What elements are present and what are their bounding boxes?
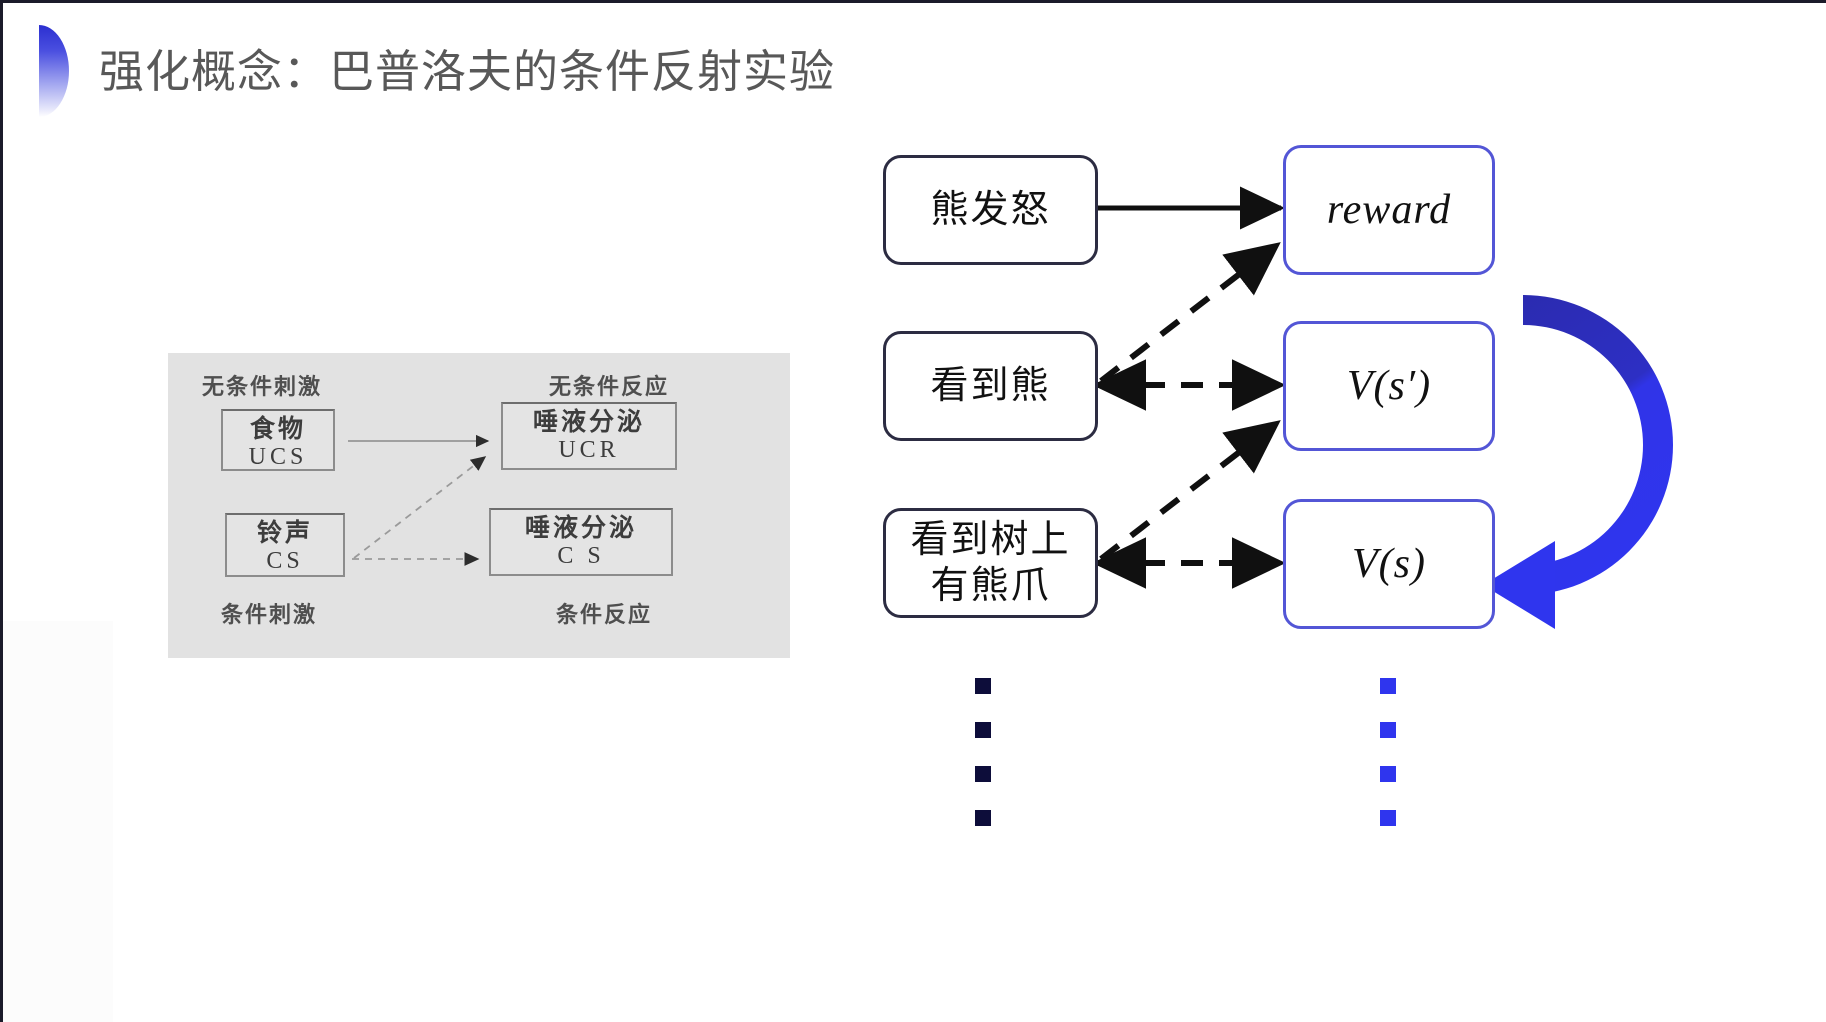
node-reward-label: reward — [1327, 186, 1451, 234]
rl-mapping-diagram: 熊发怒 看到熊 看到树上 有熊爪 reward V(s′) V(s) — [883, 133, 1743, 923]
node-see-bear-claw-label: 看到树上 有熊爪 — [910, 517, 1070, 610]
node-bear-anger-label: 熊发怒 — [930, 187, 1050, 233]
pavlov-experiment-figure: 无条件刺激 无条件反应 食物 UCS 唾液分泌 UCR 铃声 CS 唾液分泌 C… — [168, 353, 790, 658]
node-v-s-prime-label: V(s′) — [1347, 362, 1431, 410]
corner-wash — [3, 621, 113, 1022]
slide-canvas: 强化概念：巴普洛夫的条件反射实验 无条件刺激 无条件反应 食物 UCS 唾液分泌… — [0, 0, 1826, 1022]
node-see-bear-label: 看到熊 — [930, 363, 1050, 409]
pavlov-arrows — [168, 353, 790, 658]
node-see-bear-claw[interactable]: 看到树上 有熊爪 — [883, 508, 1098, 618]
ellipsis-left-dot — [975, 766, 991, 782]
ellipsis-right-dot — [1380, 766, 1396, 782]
ellipsis-left-dot — [975, 810, 991, 826]
arrow-seebear-to-reward — [1101, 245, 1277, 381]
ellipsis-left-dot — [975, 678, 991, 694]
ellipsis-right-dot — [1380, 678, 1396, 694]
node-v-s-label: V(s) — [1352, 540, 1426, 588]
ellipsis-right-dot — [1380, 810, 1396, 826]
ellipsis-left — [975, 678, 991, 826]
node-v-s[interactable]: V(s) — [1283, 499, 1495, 629]
pavlov-arrow-cs-ucr — [354, 457, 485, 558]
node-see-bear-claw-line2: 有熊爪 — [930, 565, 1050, 607]
node-v-s-prime[interactable]: V(s′) — [1283, 321, 1495, 451]
node-bear-anger[interactable]: 熊发怒 — [883, 155, 1098, 265]
ellipsis-left-dot — [975, 722, 991, 738]
node-see-bear[interactable]: 看到熊 — [883, 331, 1098, 441]
ellipsis-right — [1380, 678, 1396, 826]
title-bullet-icon — [39, 25, 69, 117]
node-reward[interactable]: reward — [1283, 145, 1495, 275]
ellipsis-right-dot — [1380, 722, 1396, 738]
arrow-seeclaw-to-vsprime — [1101, 423, 1277, 559]
node-see-bear-claw-line1: 看到树上 — [910, 519, 1070, 561]
slide-title-bar: 强化概念：巴普洛夫的条件反射实验 — [39, 25, 835, 117]
page-title: 强化概念：巴普洛夫的条件反射实验 — [99, 49, 835, 94]
